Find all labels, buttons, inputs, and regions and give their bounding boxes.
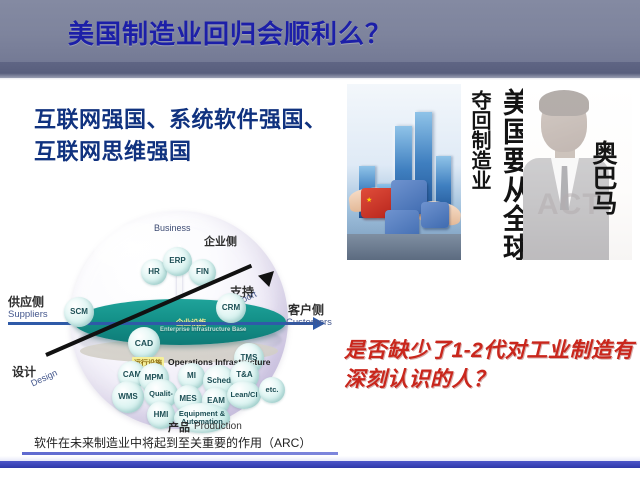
bubble-leanci: Lean/CI: [227, 381, 261, 409]
label-supplier-en: Suppliers: [8, 309, 48, 320]
photo-quote-text: 夺回制造业: [468, 90, 490, 190]
puzzle-piece-blue-right: [421, 202, 449, 228]
header-hairline: [0, 78, 640, 80]
lead-statement: 互联网强国、系统软件强国、互联网思维强国: [34, 104, 334, 168]
photo-manufacturing-illustration: ★: [347, 84, 461, 260]
header-underband: [0, 62, 640, 78]
obama-name-text: 奥巴马: [589, 140, 617, 215]
photo-quote-vertical: 夺回制造业: [465, 90, 494, 250]
caption-rule: [22, 452, 338, 455]
obama-name-vertical: 奥巴马: [585, 140, 621, 250]
slide-root: 美国制造业回归会顺利么？ 互联网强国、系统软件强国、互联网思维强国 Busine…: [0, 0, 640, 480]
photo-collage: ★ 夺回制造业 美国要从全球 ACT 奥巴马: [347, 84, 632, 260]
red-question-text: 是否缺少了1-2代对工业制造有深刻认识的人？: [344, 336, 636, 394]
label-customer-cn: 客户侧: [288, 301, 324, 318]
bubble-crm: CRM: [216, 293, 246, 323]
label-supplier-cn: 供应侧: [8, 293, 44, 310]
label-customer-en: Customers: [286, 317, 332, 328]
bubble-wms: WMS: [112, 381, 144, 413]
label-production-en: Production: [194, 421, 242, 432]
obama-hair: [539, 90, 589, 116]
label-business-en: Business: [154, 223, 191, 233]
label-production-cn: 产品: [168, 419, 190, 435]
bubble-cad: CAD: [128, 327, 160, 359]
bubble-scm: SCM: [64, 297, 94, 327]
label-enterprise-side-cn: 企业侧: [204, 233, 237, 249]
page-title: 美国制造业回归会顺利么？: [68, 14, 588, 54]
flag-star-icon: ★: [366, 197, 372, 204]
bubble-etc: etc.: [259, 377, 285, 403]
diagram-caption: 软件在未来制造业中将起到至关重要的作用（ARC）: [34, 434, 334, 451]
arc-sphere-diagram: Business 企业侧 HR ERP FIN 企业设施 Enterprise …: [8, 205, 338, 435]
footer-bar: [0, 461, 640, 468]
photo-ground: [347, 234, 461, 260]
photo-obama-portrait: ACT 奥巴马: [523, 84, 632, 260]
